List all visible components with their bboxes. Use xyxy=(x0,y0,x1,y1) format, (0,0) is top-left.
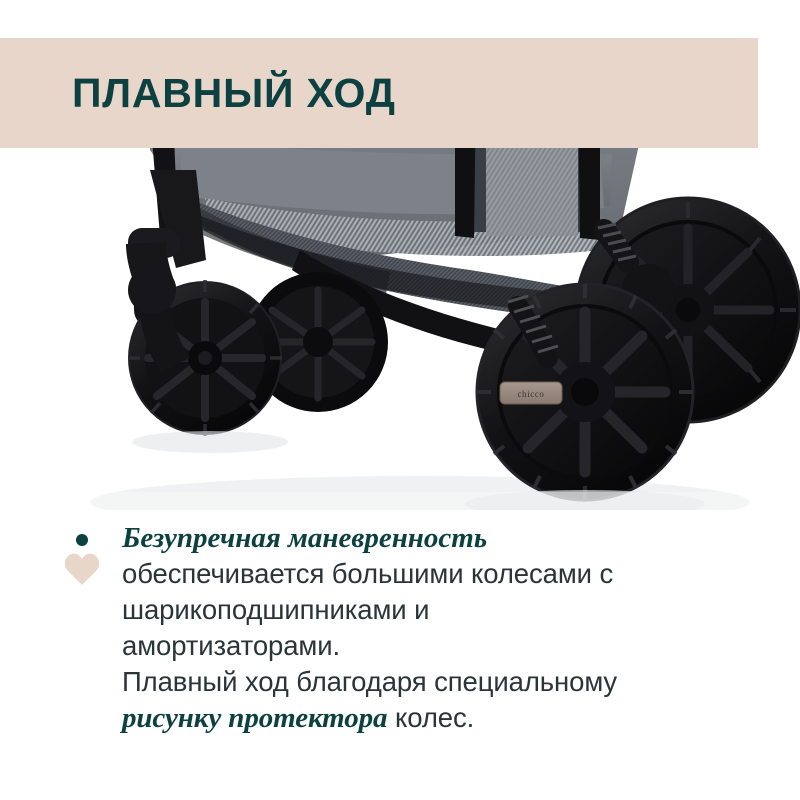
feature-tail: колес. xyxy=(387,702,474,733)
stroller-illustration: chicco xyxy=(0,110,800,510)
wheel-rear-left-main: chicco xyxy=(477,284,693,500)
brand-badge: chicco xyxy=(500,382,562,404)
feature-line-1: обеспечивается большими колесами с xyxy=(122,558,613,589)
feature-line-2: шарикоподшипниками и xyxy=(122,594,429,625)
bullet-marker xyxy=(64,530,116,590)
heart-marker-icon xyxy=(64,552,100,586)
feature-line-3: амортизаторами. xyxy=(122,630,340,661)
feature-copy: Безупречная маневренность обеспечивается… xyxy=(122,520,732,736)
promo-page: ПЛАВНЫЙ ХОД xyxy=(0,0,800,800)
page-title: ПЛАВНЫЙ ХОД xyxy=(72,73,396,114)
feature-lead: Безупречная маневренность xyxy=(122,522,487,554)
product-photo: chicco xyxy=(0,110,800,510)
svg-text:chicco: chicco xyxy=(517,389,544,399)
feature-line-4: Плавный ход благодаря специальному xyxy=(122,666,617,697)
feature-paragraph: Безупречная маневренность обеспечивается… xyxy=(122,520,732,736)
dot-icon xyxy=(76,534,88,546)
feature-accent: рисунку протектора xyxy=(122,702,387,734)
feature-block: Безупречная маневренность обеспечивается… xyxy=(0,520,800,736)
banner: ПЛАВНЫЙ ХОД xyxy=(0,38,758,148)
